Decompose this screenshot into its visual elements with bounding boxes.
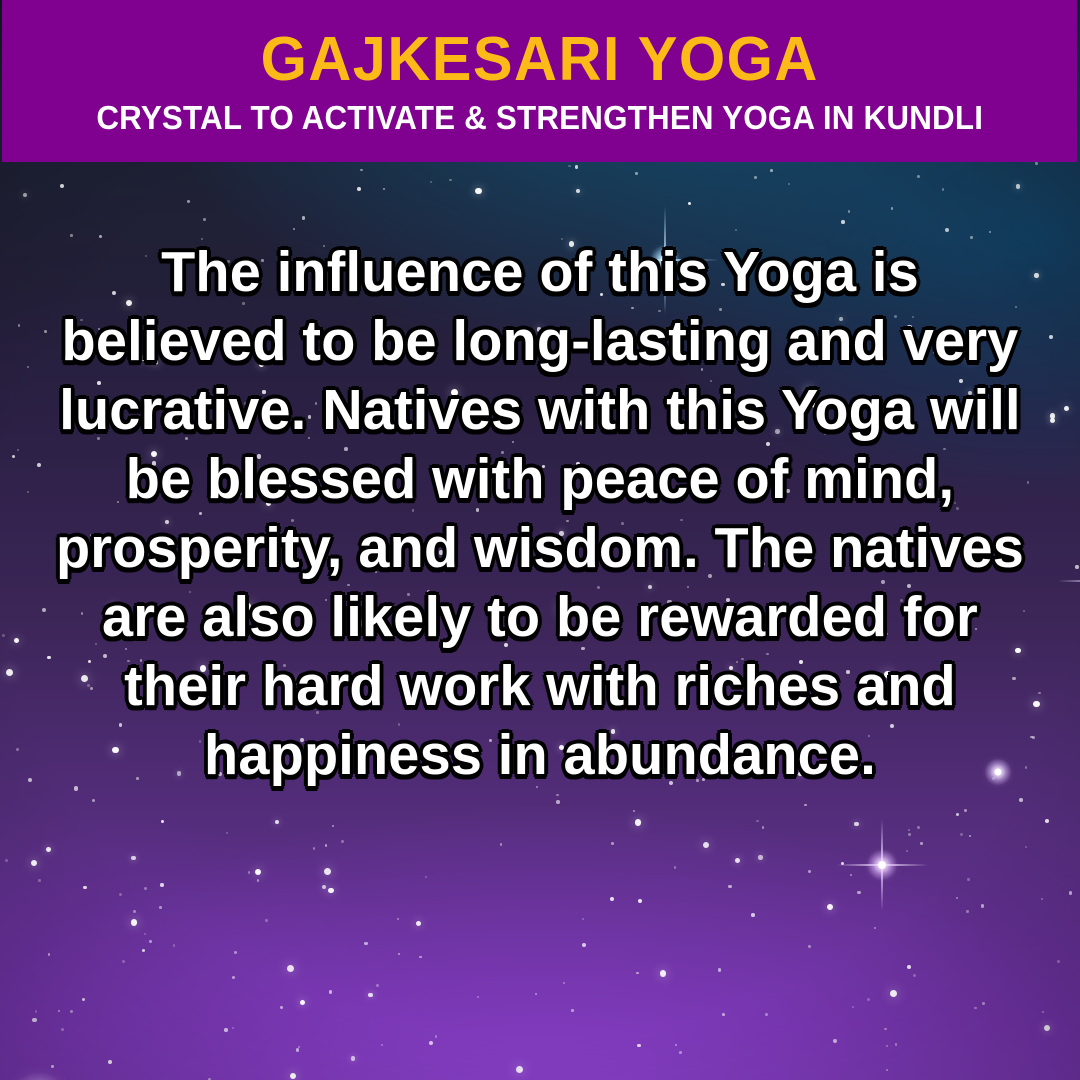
header-banner: GAJKESARI YOGA CRYSTAL TO ACTIVATE & STR…: [2, 0, 1077, 162]
page-subtitle: CRYSTAL TO ACTIVATE & STRENGTHEN YOGA IN…: [96, 101, 983, 134]
body-paragraph: The influence of this Yoga isbelieved to…: [52, 238, 1028, 790]
body-copy-block: The influence of this Yoga isbelieved to…: [0, 238, 1080, 790]
page-title: GAJKESARI YOGA: [260, 29, 818, 91]
poster-canvas: GAJKESARI YOGA CRYSTAL TO ACTIVATE & STR…: [0, 0, 1080, 1080]
